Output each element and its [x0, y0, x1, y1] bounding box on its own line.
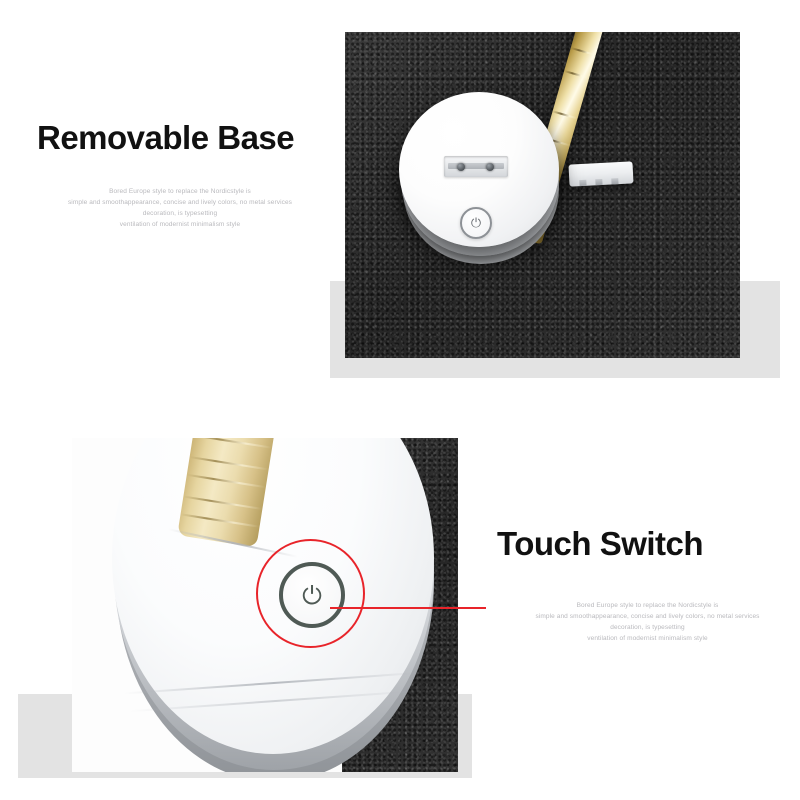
removable-base-photo: ⏻ — [345, 32, 740, 358]
page-title-removable-base: Removable Base — [37, 119, 294, 157]
copy-line: decoration, is typesetting — [505, 622, 790, 633]
touch-switch-description: Bored Europe style to replace the Nordic… — [505, 600, 790, 644]
copy-line: Bored Europe style to replace the Nordic… — [35, 186, 325, 197]
copy-line: ventilation of modernist minimalism styl… — [35, 219, 325, 230]
page-title-touch-switch: Touch Switch — [497, 525, 703, 563]
copy-line: decoration, is typesetting — [35, 208, 325, 219]
product-feature-page: ⏻ Removable Base Bored Europe style to r… — [0, 0, 800, 800]
copy-line: simple and smoothappearance, concise and… — [505, 611, 790, 622]
copy-line: Bored Europe style to replace the Nordic… — [505, 600, 790, 611]
base-connector-socket — [444, 156, 508, 177]
touch-switch-photo: ⏻ — [72, 438, 458, 772]
callout-leader-line — [330, 607, 486, 609]
rod-foot-connector — [568, 161, 633, 186]
copy-line: ventilation of modernist minimalism styl… — [505, 633, 790, 644]
power-icon: ⏻ — [471, 217, 481, 230]
removable-base-description: Bored Europe style to replace the Nordic… — [35, 186, 325, 230]
power-button[interactable]: ⏻ — [460, 207, 492, 239]
copy-line: simple and smoothappearance, concise and… — [35, 197, 325, 208]
callout-highlight-circle — [256, 539, 365, 648]
